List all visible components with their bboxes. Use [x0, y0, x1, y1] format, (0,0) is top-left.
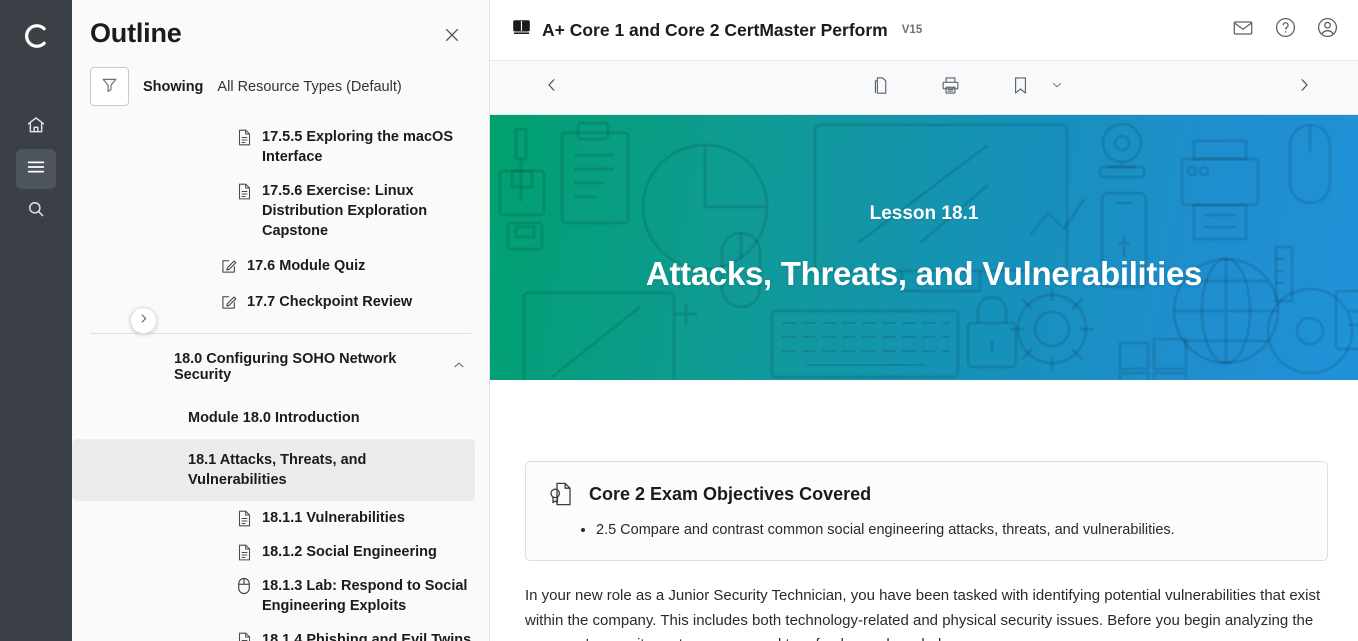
previous-page-button[interactable]: [530, 66, 574, 110]
outline-item-label: 18.1.3 Lab: Respond to Social Engineerin…: [262, 576, 475, 616]
content-toolbar: [490, 60, 1358, 115]
account-button[interactable]: [1314, 17, 1340, 43]
hero-lesson-label: Lesson 18.1: [870, 203, 979, 225]
objectives-list: 2.5 Compare and contrast common social e…: [596, 520, 1307, 541]
course-topbar: A+ Core 1 and Core 2 CertMaster Perform …: [490, 0, 1358, 60]
outline-item-label: 17.6 Module Quiz: [247, 256, 365, 276]
course-identity: A+ Core 1 and Core 2 CertMaster Perform …: [512, 18, 922, 42]
outline-item-17-5-5[interactable]: 17.5.5 Exploring the macOS Interface: [72, 120, 489, 174]
lesson-hero-banner: Lesson 18.1 Attacks, Threats, and Vulner…: [490, 115, 1358, 380]
outline-tree: 17.5.5 Exploring the macOS Interface 17.…: [72, 120, 489, 641]
outline-module-header-18[interactable]: 18.0 Configuring SOHO Network Security: [72, 334, 489, 397]
outline-item-18-1-1[interactable]: 18.1.1 Vulnerabilities: [72, 501, 489, 535]
outline-tree-scroll[interactable]: 17.5.5 Exploring the macOS Interface 17.…: [72, 120, 489, 641]
outline-item-18-1-2[interactable]: 18.1.2 Social Engineering: [72, 535, 489, 569]
module-title: 18.0 Configuring SOHO Network Security: [174, 351, 451, 383]
document-icon: [235, 509, 253, 527]
lesson-body: Core 2 Exam Objectives Covered 2.5 Compa…: [490, 380, 1358, 641]
course-title: A+ Core 1 and Core 2 CertMaster Perform: [542, 20, 888, 41]
mail-button[interactable]: [1230, 17, 1256, 43]
outline-item-module-18-intro[interactable]: Module 18.0 Introduction: [72, 397, 489, 439]
outline-item-17-5-6[interactable]: 17.5.6 Exercise: Linux Distribution Expl…: [72, 174, 489, 248]
filter-button[interactable]: [90, 67, 129, 106]
help-circle-icon: [1274, 16, 1297, 44]
document-icon: [235, 631, 253, 641]
mail-icon: [1232, 17, 1254, 44]
lesson-intro-paragraph: In your new role as a Junior Security Te…: [525, 584, 1325, 641]
document-icon: [235, 182, 253, 200]
chevron-right-icon: [1295, 76, 1313, 99]
objectives-header: Core 2 Exam Objectives Covered: [546, 479, 1307, 509]
outline-item-17-6[interactable]: 17.6 Module Quiz: [72, 248, 489, 284]
outline-item-label: 18.1.4 Phishing and Evil Twins: [262, 630, 471, 641]
close-outline-button[interactable]: [439, 24, 465, 50]
quiz-pencil-icon: [220, 257, 238, 275]
chevron-left-icon: [543, 76, 561, 99]
main-area: A+ Core 1 and Core 2 CertMaster Perform …: [490, 0, 1358, 641]
search-icon: [26, 199, 46, 224]
course-version-badge: V15: [902, 24, 922, 36]
book-icon: [512, 18, 531, 42]
outline-item-18-1[interactable]: 18.1 Attacks, Threats, and Vulnerabiliti…: [72, 439, 475, 501]
bookmark-icon: [1010, 75, 1031, 101]
user-account-icon: [1316, 16, 1339, 44]
outline-item-label: 18.1.1 Vulnerabilities: [262, 508, 405, 528]
chevron-down-icon: [1050, 78, 1064, 97]
document-icon: [235, 543, 253, 561]
comptia-c-logo-icon[interactable]: [16, 16, 56, 56]
showing-value[interactable]: All Resource Types (Default): [217, 79, 401, 95]
toolbar-actions: [574, 73, 1358, 103]
print-icon: [940, 75, 961, 101]
hero-tech-pattern: [490, 115, 1358, 380]
chevron-right-icon: [137, 312, 150, 330]
copy-icon: [870, 75, 891, 101]
outline-item-label: 18.1.2 Social Engineering: [262, 542, 437, 562]
hamburger-menu-icon: [25, 156, 47, 183]
filter-funnel-icon: [100, 75, 119, 99]
outline-item-label: 18.1 Attacks, Threats, and Vulnerabiliti…: [188, 450, 461, 490]
app-root: Outline Showing All Resource Types (Defa…: [0, 0, 1358, 641]
outline-item-label: 17.7 Checkpoint Review: [247, 292, 412, 312]
bookmark-menu-button[interactable]: [1047, 78, 1067, 98]
next-page-button[interactable]: [1282, 66, 1326, 110]
objectives-title: Core 2 Exam Objectives Covered: [589, 484, 871, 505]
expand-panel-button[interactable]: [130, 307, 157, 334]
outline-item-label: 17.5.5 Exploring the macOS Interface: [262, 127, 475, 167]
hero-heading: Attacks, Threats, and Vulnerabilities: [646, 255, 1202, 293]
showing-label: Showing: [143, 79, 203, 95]
outline-panel: Outline Showing All Resource Types (Defa…: [72, 0, 490, 641]
mouse-lab-icon: [235, 577, 253, 595]
outline-item-18-1-4[interactable]: 18.1.4 Phishing and Evil Twins: [72, 623, 489, 641]
exam-objectives-callout: Core 2 Exam Objectives Covered 2.5 Compa…: [525, 461, 1328, 561]
document-icon: [235, 128, 253, 146]
outline-item-label: Module 18.0 Introduction: [188, 408, 360, 428]
outline-item-label: 17.5.6 Exercise: Linux Distribution Expl…: [262, 181, 475, 241]
copy-button[interactable]: [865, 73, 895, 103]
page-title: Outline: [90, 18, 182, 49]
rail-item-home[interactable]: [16, 107, 56, 147]
home-icon: [26, 115, 46, 140]
rail-item-search[interactable]: [16, 191, 56, 231]
filter-row: Showing All Resource Types (Default): [72, 50, 489, 120]
objective-item: 2.5 Compare and contrast common social e…: [596, 520, 1307, 541]
outline-scrollbar-track[interactable]: [481, 120, 486, 641]
certificate-document-icon: [546, 479, 576, 509]
lesson-content[interactable]: Lesson 18.1 Attacks, Threats, and Vulner…: [490, 115, 1358, 641]
topbar-actions: [1230, 17, 1340, 43]
chevron-up-icon[interactable]: [451, 357, 467, 378]
outline-item-18-1-3[interactable]: 18.1.3 Lab: Respond to Social Engineerin…: [72, 569, 489, 623]
close-icon: [442, 25, 462, 50]
bookmark-button[interactable]: [1005, 73, 1035, 103]
quiz-pencil-icon: [220, 293, 238, 311]
outline-header: Outline: [72, 0, 489, 50]
rail-item-outline[interactable]: [16, 149, 56, 189]
help-button[interactable]: [1272, 17, 1298, 43]
print-button[interactable]: [935, 73, 965, 103]
app-rail: [0, 0, 72, 641]
